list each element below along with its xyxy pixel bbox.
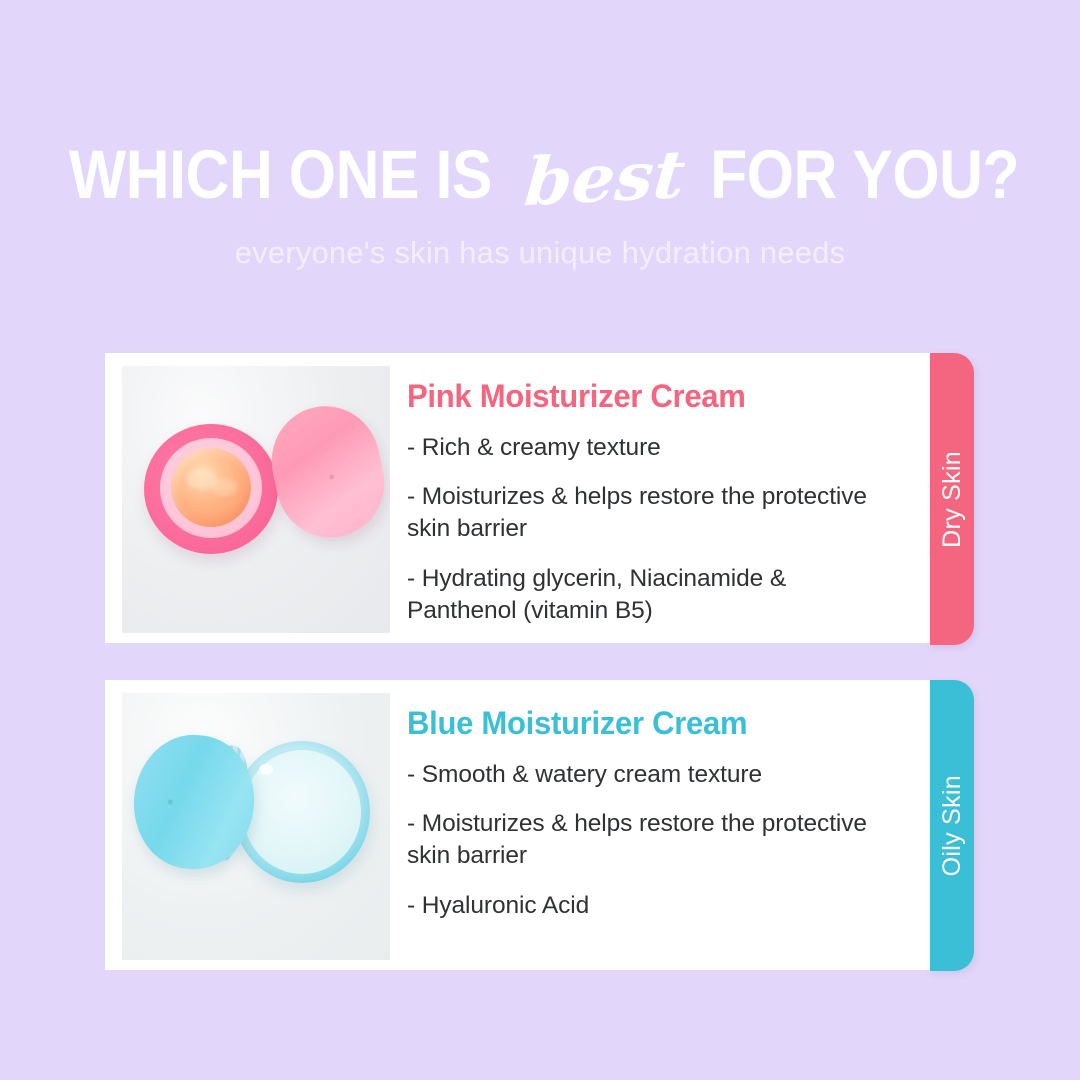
product-card-blue[interactable]: Blue Moisturizer Cream - Smooth & watery… <box>105 680 930 970</box>
list-item: - Smooth & watery cream texture <box>407 759 896 791</box>
skin-type-tab-dry-label: Dry Skin <box>938 451 967 548</box>
blue-jar-base-shape <box>234 741 370 883</box>
blue-card-title: Blue Moisturizer Cream <box>407 707 881 741</box>
pink-cream-surface-shape <box>171 448 251 527</box>
pink-jar-inner-shape <box>160 438 262 538</box>
headline-part-1: WHICH ONE IS <box>69 137 492 213</box>
list-item: - Hydrating glycerin, Niacinamide & Pant… <box>407 563 896 627</box>
header: WHICH ONE IS best FOR YOU? everyone's sk… <box>0 0 1080 271</box>
headline-part-2: FOR YOU? <box>710 137 1019 213</box>
blue-jar-inner-shape <box>243 750 361 874</box>
list-item: - Moisturizes & helps restore the protec… <box>407 481 896 545</box>
list-item: - Hyaluronic Acid <box>407 890 896 922</box>
pink-card-body: Pink Moisturizer Cream - Rich & creamy t… <box>390 353 930 627</box>
pink-jar-base-shape <box>144 424 278 554</box>
pink-moisturizer-jar-photo <box>122 366 390 633</box>
pink-card-feature-list: - Rich & creamy texture - Moisturizes & … <box>407 432 896 627</box>
pink-card-title: Pink Moisturizer Cream <box>407 380 881 414</box>
skin-type-tab-oily-label: Oily Skin <box>938 775 967 876</box>
pink-jar-lid-shape <box>261 396 390 548</box>
blue-card-feature-list: - Smooth & watery cream texture - Moistu… <box>407 759 896 922</box>
page-title: WHICH ONE IS best FOR YOU? <box>0 0 1080 213</box>
list-item: - Moisturizes & helps restore the protec… <box>407 808 896 872</box>
list-item: - Rich & creamy texture <box>407 432 896 464</box>
skin-type-tab-dry[interactable]: Dry Skin <box>930 353 974 645</box>
blue-card-body: Blue Moisturizer Cream - Smooth & watery… <box>390 680 930 922</box>
headline-script-word: best <box>515 136 694 221</box>
product-card-pink[interactable]: Pink Moisturizer Cream - Rich & creamy t… <box>105 353 930 643</box>
skin-type-tab-oily[interactable]: Oily Skin <box>930 680 974 971</box>
page-subtitle: everyone's skin has unique hydration nee… <box>0 213 1080 271</box>
blue-moisturizer-jar-photo <box>122 693 390 960</box>
